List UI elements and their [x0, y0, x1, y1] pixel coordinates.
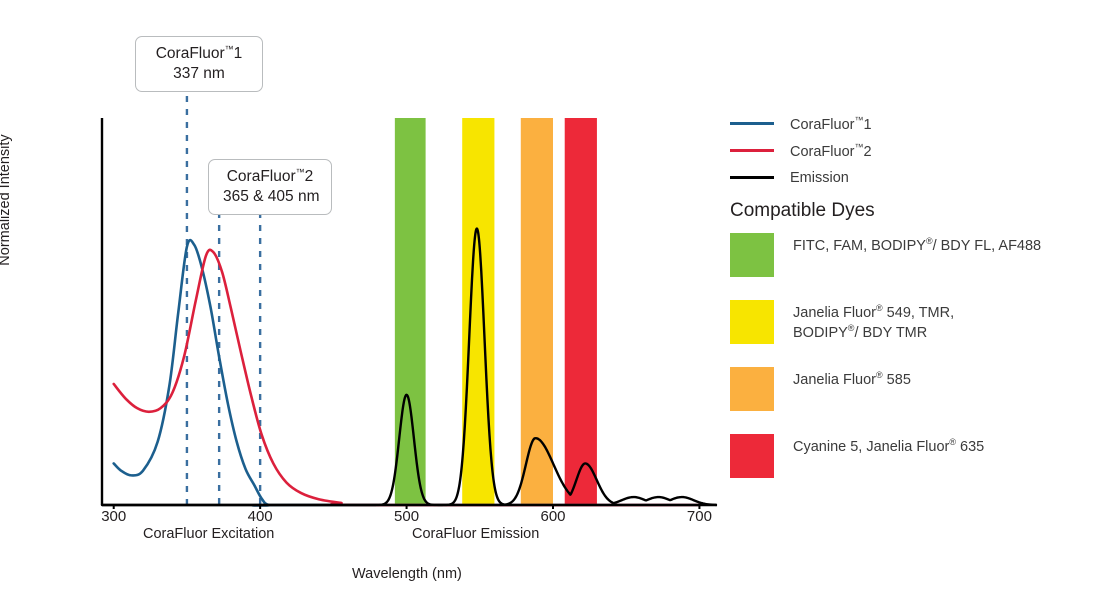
legend-item-label: CoraFluor™1	[790, 115, 872, 133]
trademark-symbol: ™	[296, 167, 305, 177]
registered-symbol: ®	[949, 437, 956, 447]
y-axis-title: Normalized Intensity	[0, 100, 13, 300]
registered-symbol: ®	[876, 370, 883, 380]
band-red	[565, 118, 597, 505]
registered-symbol: ®	[876, 303, 883, 313]
trademark-symbol: ™	[854, 142, 863, 152]
dye-item-3[interactable]: Cyanine 5, Janelia Fluor® 635	[730, 434, 1105, 478]
x-tick-400: 400	[230, 508, 290, 525]
x-tick-500: 500	[377, 508, 437, 525]
emission-region-label: CoraFluor Emission	[412, 526, 539, 542]
dye-color-swatch	[730, 434, 774, 478]
dye-item-0[interactable]: FITC, FAM, BODIPY®/ BDY FL, AF488	[730, 233, 1105, 277]
dye-item-label: Janelia Fluor® 585	[793, 367, 911, 390]
compatible-dyes-list: FITC, FAM, BODIPY®/ BDY FL, AF488Janelia…	[730, 233, 1105, 501]
dye-color-swatch	[730, 233, 774, 277]
dye-item-label: FITC, FAM, BODIPY®/ BDY FL, AF488	[793, 233, 1041, 256]
legend-line-swatch	[730, 176, 774, 179]
legend-item-label: CoraFluor™2	[790, 142, 872, 160]
excitation-region-label: CoraFluor Excitation	[143, 526, 274, 542]
callout-corafluor1-value: 337 nm	[150, 64, 248, 83]
callout-corafluor1-title: CoraFluor™1	[150, 44, 248, 64]
x-axis-title: Wavelength (nm)	[352, 566, 462, 582]
chart-figure: Normalized Intensity Wavelength (nm) Cor…	[0, 0, 1110, 612]
callout-corafluor2: CoraFluor™2 365 & 405 nm	[208, 159, 332, 215]
legend-line-swatch	[730, 122, 774, 125]
x-tick-700: 700	[669, 508, 729, 525]
registered-symbol: ®	[926, 236, 933, 246]
callout-corafluor2-value: 365 & 405 nm	[223, 187, 317, 206]
legend-item-0[interactable]: CoraFluor™1	[730, 110, 1100, 137]
trademark-symbol: ™	[854, 115, 863, 125]
callout-corafluor1: CoraFluor™1 337 nm	[135, 36, 263, 92]
excitation-marker-lines	[187, 96, 260, 505]
trademark-symbol: ™	[225, 44, 234, 54]
legend-line-swatch	[730, 149, 774, 152]
dye-color-swatch	[730, 367, 774, 411]
x-tick-600: 600	[523, 508, 583, 525]
band-orange	[521, 118, 553, 505]
dye-item-label: Janelia Fluor® 549, TMR,BODIPY®/ BDY TMR	[793, 300, 954, 343]
emission-filter-bands	[395, 118, 597, 505]
x-tick-300: 300	[84, 508, 144, 525]
callout-corafluor2-title: CoraFluor™2	[223, 167, 317, 187]
dye-item-label: Cyanine 5, Janelia Fluor® 635	[793, 434, 984, 457]
series-legend: CoraFluor™1CoraFluor™2Emission	[730, 110, 1100, 191]
dye-item-1[interactable]: Janelia Fluor® 549, TMR,BODIPY®/ BDY TMR	[730, 300, 1105, 344]
legend-item-2[interactable]: Emission	[730, 164, 1100, 191]
dye-color-swatch	[730, 300, 774, 344]
legend-item-label: Emission	[790, 170, 849, 186]
dye-item-2[interactable]: Janelia Fluor® 585	[730, 367, 1105, 411]
compatible-dyes-title: Compatible Dyes	[730, 200, 875, 222]
registered-symbol: ®	[848, 323, 855, 333]
legend-item-1[interactable]: CoraFluor™2	[730, 137, 1100, 164]
